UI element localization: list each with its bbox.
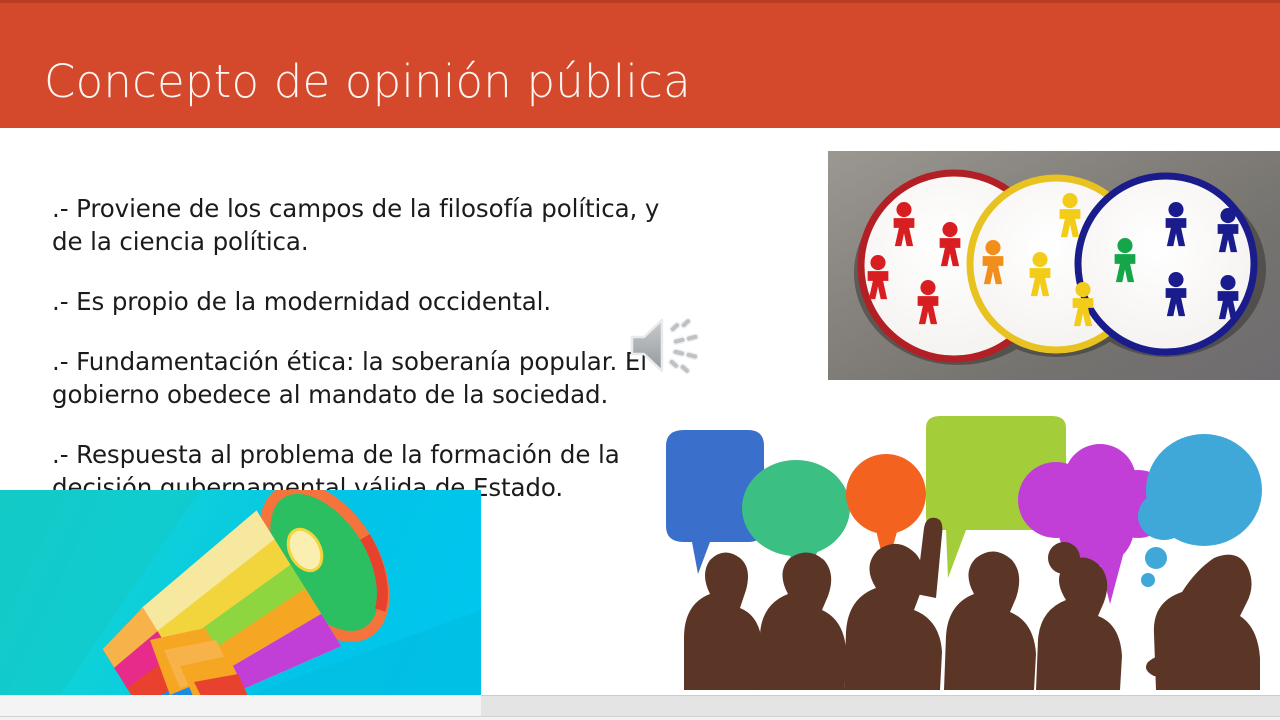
crowd-with-speech-bubbles-image (648, 408, 1268, 690)
speaker-audio-icon[interactable] (628, 315, 700, 377)
window-bottom-edge (0, 716, 1280, 720)
presentation-slide: Concepto de opinión pública .- Proviene … (0, 0, 1280, 720)
page-title: Concepto de opinión pública (44, 55, 691, 108)
slide-body-text: .- Proviene de los campos de la filosofí… (52, 192, 662, 504)
horizontal-scrollbar[interactable] (481, 695, 1280, 717)
speech-bubble-orange (846, 454, 926, 534)
bullet-item: .- Proviene de los campos de la filosofí… (52, 192, 662, 258)
rainbow-megaphone-image (0, 490, 481, 695)
bullet-item: .- Es propio de la modernidad occidental… (52, 285, 662, 318)
speech-bubble-green (742, 460, 850, 556)
bullet-item: .- Fundamentación ética: la soberanía po… (52, 345, 662, 411)
three-overlapping-circles-people-image (828, 151, 1280, 380)
slide-title-band: Concepto de opinión pública (0, 0, 1280, 128)
